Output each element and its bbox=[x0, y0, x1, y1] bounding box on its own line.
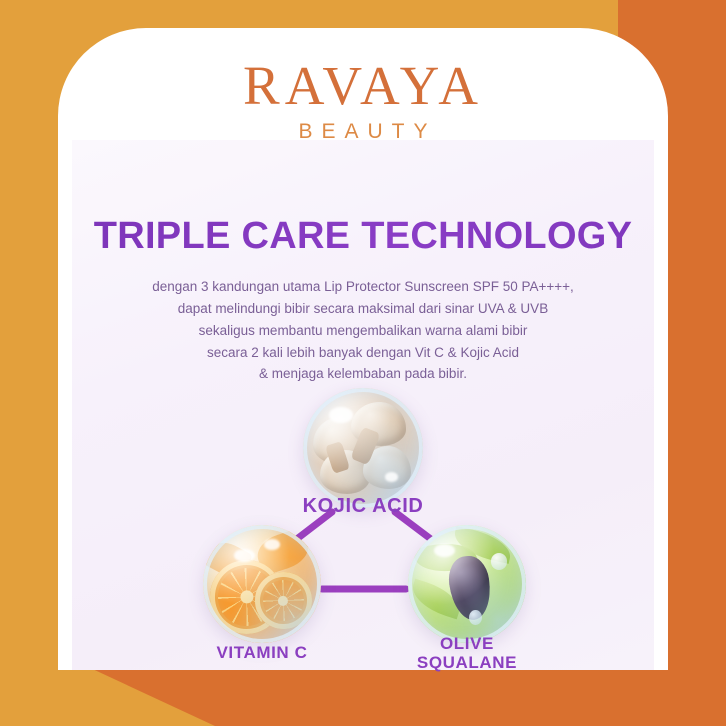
brand-logo: RAVAYA BEAUTY bbox=[0, 58, 726, 144]
ingredient-bubble-olive-squalane bbox=[408, 525, 526, 643]
ingredient-bubble-kojic-acid bbox=[303, 388, 423, 508]
brand-name: RAVAYA bbox=[243, 58, 483, 113]
ingredient-label-olive-line-1: OLIVE bbox=[367, 634, 567, 653]
ingredient-label-kojic-acid: KOJIC ACID bbox=[263, 495, 463, 518]
ingredient-bubble-vitamin-c bbox=[203, 525, 321, 643]
poster-canvas: RAVAYA BEAUTY TRIPLE CARE TECHNOLOGY den… bbox=[0, 0, 726, 726]
description-paragraph: dengan 3 kandungan utama Lip Protector S… bbox=[0, 276, 726, 385]
ingredient-diagram bbox=[0, 372, 726, 692]
description-line-4: secara 2 kali lebih banyak dengan Vit C … bbox=[0, 342, 726, 364]
description-line-2: dapat melindungi bibir secara maksimal d… bbox=[0, 298, 726, 320]
ingredient-label-olive-line-2: SQUALANE bbox=[367, 653, 567, 672]
description-line-1: dengan 3 kandungan utama Lip Protector S… bbox=[0, 276, 726, 298]
page-title: TRIPLE CARE TECHNOLOGY bbox=[0, 215, 726, 258]
description-line-3: sekaligus membantu mengembalikan warna a… bbox=[0, 320, 726, 342]
description-line-5: & menjaga kelembaban pada bibir. bbox=[0, 363, 726, 385]
ingredient-label-vitamin-c: VITAMIN C bbox=[162, 643, 362, 662]
ingredient-label-olive-squalane: OLIVE SQUALANE bbox=[367, 634, 567, 673]
brand-tagline: BEAUTY bbox=[0, 120, 726, 144]
